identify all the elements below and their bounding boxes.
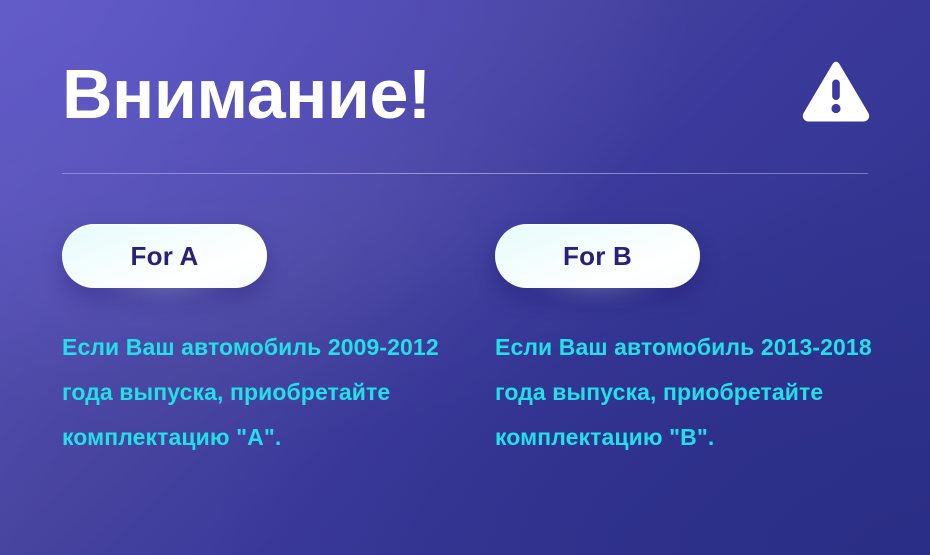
warning-banner: Внимание! For A Если Ваш автомобиль 2009… [0, 0, 930, 555]
option-b-description: Если Ваш автомобиль 2013-2018 года выпус… [495, 325, 885, 460]
pill-wrap-a: For A [62, 224, 267, 288]
option-a-description: Если Ваш автомобиль 2009-2012 года выпус… [62, 325, 447, 460]
pill-wrap-b: For B [495, 224, 700, 288]
for-a-button[interactable]: For A [62, 224, 267, 288]
for-b-button[interactable]: For B [495, 224, 700, 288]
option-column-a: For A Если Ваш автомобиль 2009-2012 года… [62, 224, 462, 288]
warning-triangle-icon [802, 61, 870, 123]
header-divider [62, 173, 868, 174]
option-column-b: For B Если Ваш автомобиль 2013-2018 года… [495, 224, 895, 288]
page-title: Внимание! [62, 52, 431, 136]
banner-header: Внимание! [62, 52, 870, 144]
